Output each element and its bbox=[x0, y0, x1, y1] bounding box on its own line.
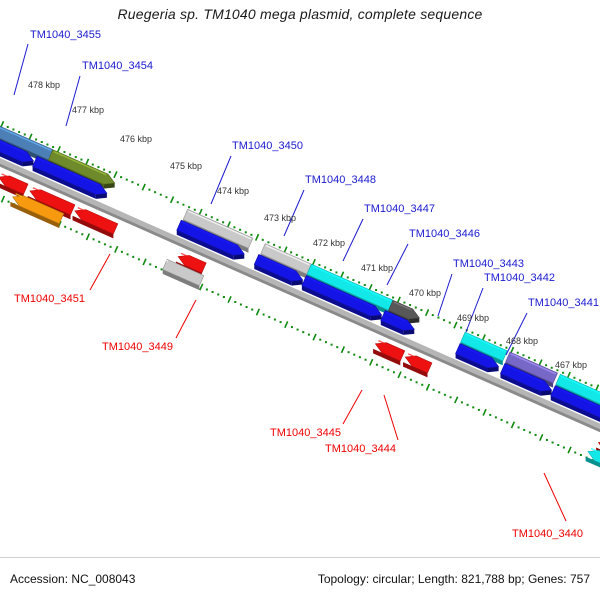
scale-tick-label: 469 kbp bbox=[457, 313, 489, 323]
gene-label-tm1040_3451[interactable]: TM1040_3451 bbox=[14, 293, 85, 305]
gene-label-tm1040_3454[interactable]: TM1040_3454 bbox=[82, 60, 153, 72]
reverse-strand-features bbox=[0, 174, 600, 488]
gene-label-tm1040_3447[interactable]: TM1040_3447 bbox=[364, 203, 435, 215]
gene-label-tm1040_3455[interactable]: TM1040_3455 bbox=[30, 29, 101, 41]
status-bar: Accession: NC_008043 Topology: circular;… bbox=[0, 557, 600, 600]
gene-label-tm1040_3449[interactable]: TM1040_3449 bbox=[102, 341, 173, 353]
scale-tick-label: 475 kbp bbox=[170, 161, 202, 171]
gene-label-tm1040_3440[interactable]: TM1040_3440 bbox=[512, 528, 583, 540]
gene-label-tm1040_3442[interactable]: TM1040_3442 bbox=[484, 272, 555, 284]
scale-tick-label: 471 kbp bbox=[361, 263, 393, 273]
scale-tick-label: 473 kbp bbox=[264, 213, 296, 223]
gene-label-tm1040_3448[interactable]: TM1040_3448 bbox=[305, 174, 376, 186]
gene-label-tm1040_3445[interactable]: TM1040_3445 bbox=[270, 427, 341, 439]
accession-text: Accession: NC_008043 bbox=[10, 572, 135, 586]
gene-label-tm1040_3443[interactable]: TM1040_3443 bbox=[453, 258, 524, 270]
gene-label-tm1040_3441[interactable]: TM1040_3441 bbox=[528, 297, 599, 309]
genome-map-viewer: Ruegeria sp. TM1040 mega plasmid, comple… bbox=[0, 0, 600, 600]
gene-label-tm1040_3446[interactable]: TM1040_3446 bbox=[409, 228, 480, 240]
scale-tick-label: 477 kbp bbox=[72, 105, 104, 115]
genome-stats-text: Topology: circular; Length: 821,788 bp; … bbox=[318, 572, 590, 586]
scale-tick-label: 474 kbp bbox=[217, 186, 249, 196]
scale-tick-label: 476 kbp bbox=[120, 134, 152, 144]
gene-label-tm1040_3450[interactable]: TM1040_3450 bbox=[232, 140, 303, 152]
scale-tick-label: 467 kbp bbox=[555, 360, 587, 370]
scale-tick-label: 470 kbp bbox=[409, 288, 441, 298]
gene-label-tm1040_3444[interactable]: TM1040_3444 bbox=[325, 443, 396, 455]
scale-tick-label: 468 kbp bbox=[506, 336, 538, 346]
scale-tick-label: 478 kbp bbox=[28, 80, 60, 90]
forward-strand-features bbox=[0, 114, 600, 427]
genome-map-canvas bbox=[0, 0, 600, 600]
scale-tick-label: 472 kbp bbox=[313, 238, 345, 248]
